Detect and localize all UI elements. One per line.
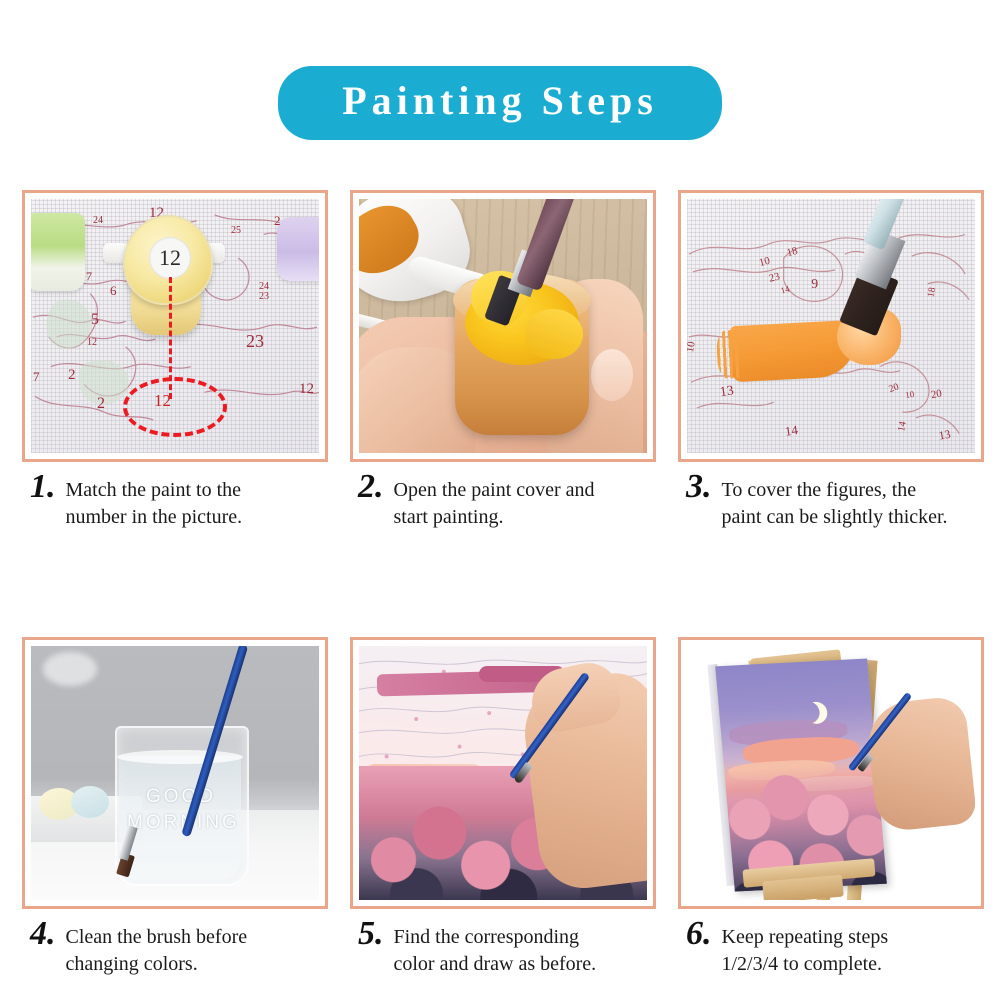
step-line-2: paint can be slightly thicker. [722, 506, 948, 528]
step-description: Open the paint cover and start painting. [386, 472, 595, 531]
canvas-number: 12 [87, 337, 97, 348]
steps-row-2: GOOD MORNING 4. Clean the brush before c… [22, 637, 984, 978]
step-3-caption: 3. To cover the figures, the paint can b… [678, 472, 984, 531]
canvas-number: 25 [231, 225, 241, 236]
step-card-4: GOOD MORNING 4. Clean the brush before c… [22, 637, 328, 978]
canvas-number: 23 [259, 291, 269, 302]
step-line-2: number in the picture. [66, 506, 243, 528]
step-line-1: Open the paint cover and [394, 479, 595, 501]
canvas-number: 7 [33, 369, 40, 385]
svg-text:14: 14 [779, 283, 791, 295]
step-number: 2. [358, 472, 384, 502]
step-card-2: 2. Open the paint cover and start painti… [350, 190, 656, 531]
step-5-photo-frame [350, 637, 656, 909]
painting-in-progress-photo [359, 646, 647, 900]
brush-in-water-glass-photo: GOOD MORNING [31, 646, 319, 900]
glass-printed-text: GOOD MORNING [127, 784, 235, 836]
svg-text:10: 10 [758, 255, 771, 269]
svg-text:10: 10 [687, 341, 698, 354]
step-number: 6. [686, 919, 712, 949]
step-6-caption: 6. Keep repeating steps 1/2/3/4 to compl… [678, 919, 984, 978]
step-number: 3. [686, 472, 712, 502]
title-pill: Painting Steps [278, 66, 722, 140]
canvas-number: 2 [97, 395, 105, 413]
step-line-1: To cover the figures, the [722, 479, 917, 501]
step-card-1: 12 24 2 7 6 5 12 7 2 2 23 24 23 12 [22, 190, 328, 531]
paint-pot-number-label: 12 [149, 237, 191, 279]
step-description: To cover the figures, the paint can be s… [714, 472, 948, 531]
step-6-photo-frame [678, 637, 984, 909]
steps-row-1: 12 24 2 7 6 5 12 7 2 2 23 24 23 12 [22, 190, 984, 531]
background-ornament [71, 786, 109, 818]
step-1-photo-frame: 12 24 2 7 6 5 12 7 2 2 23 24 23 12 [22, 190, 328, 462]
canvas-number: 24 [93, 215, 103, 226]
glass-text-line-1: GOOD [146, 786, 216, 807]
water-surface-line [117, 750, 243, 764]
step-number: 5. [358, 919, 384, 949]
green-paint-jar [31, 213, 85, 291]
step-card-5: 5. Find the corresponding color and draw… [350, 637, 656, 978]
step-line-1: Match the paint to the [66, 479, 242, 501]
step-4-caption: 4. Clean the brush before changing color… [22, 919, 328, 978]
step-line-1: Find the corresponding [394, 926, 580, 948]
step-line-2: start painting. [394, 506, 504, 528]
step-description: Match the paint to the number in the pic… [58, 472, 243, 531]
paint-blob [525, 309, 583, 359]
step-description: Keep repeating steps 1/2/3/4 to complete… [714, 919, 889, 978]
svg-text:14: 14 [784, 423, 799, 439]
step-description: Find the corresponding color and draw as… [386, 919, 597, 978]
step-3-photo-frame: 10 18 23 14 9 20 13 18 20 10 13 [678, 190, 984, 462]
red-dashed-highlight-ellipse [123, 377, 227, 437]
step-line-2: 1/2/3/4 to complete. [722, 953, 883, 975]
svg-text:23: 23 [768, 270, 781, 284]
blurred-background-object [43, 652, 97, 686]
canvas-number: 6 [110, 283, 117, 299]
step-number: 1. [30, 472, 56, 502]
svg-text:13: 13 [719, 382, 735, 399]
steps-grid: 12 24 2 7 6 5 12 7 2 2 23 24 23 12 [22, 190, 984, 978]
canvas-number: 5 [91, 311, 99, 329]
canvas-number: 12 [299, 381, 314, 398]
step-line-1: Clean the brush before [66, 926, 248, 948]
finished-canvas [715, 658, 887, 891]
step-line-2: changing colors. [66, 953, 198, 975]
step-description: Clean the brush before changing colors. [58, 919, 248, 978]
svg-text:13: 13 [938, 427, 952, 443]
step-4-photo-frame: GOOD MORNING [22, 637, 328, 909]
fingernail [591, 349, 633, 401]
brush-applying-orange-paint-photo: 10 18 23 14 9 20 13 18 20 10 13 [687, 199, 975, 453]
canvas-number: 2 [68, 367, 76, 384]
finished-painting-on-easel-photo [687, 646, 975, 900]
painting-steps-infographic: Painting Steps [0, 0, 1000, 1000]
svg-text:10: 10 [905, 389, 916, 400]
step-card-3: 10 18 23 14 9 20 13 18 20 10 13 [678, 190, 984, 531]
step-line-2: color and draw as before. [394, 953, 597, 975]
svg-text:20: 20 [930, 387, 943, 401]
paint-pot-matching-number-photo: 12 24 2 7 6 5 12 7 2 2 23 24 23 12 [31, 199, 319, 453]
svg-text:14: 14 [896, 421, 909, 433]
opening-paint-pot-photo [359, 199, 647, 453]
svg-text:18: 18 [926, 286, 939, 298]
canvas-number: 23 [246, 331, 264, 352]
highlighted-canvas-number: 12 [154, 391, 171, 411]
canvas-number: 2 [274, 213, 281, 229]
step-number: 4. [30, 919, 56, 949]
svg-text:18: 18 [785, 245, 798, 259]
purple-paint-jar [277, 217, 319, 281]
svg-text:20: 20 [887, 381, 900, 395]
painting-hand [865, 695, 975, 833]
header: Painting Steps [0, 66, 1000, 140]
step-2-photo-frame [350, 190, 656, 462]
step-5-caption: 5. Find the corresponding color and draw… [350, 919, 656, 978]
page-title: Painting Steps [330, 80, 670, 122]
step-line-1: Keep repeating steps [722, 926, 889, 948]
step-1-caption: 1. Match the paint to the number in the … [22, 472, 328, 531]
step-2-caption: 2. Open the paint cover and start painti… [350, 472, 656, 531]
svg-text:9: 9 [811, 276, 818, 291]
canvas-number: 7 [86, 269, 92, 284]
step-card-6: 6. Keep repeating steps 1/2/3/4 to compl… [678, 637, 984, 978]
